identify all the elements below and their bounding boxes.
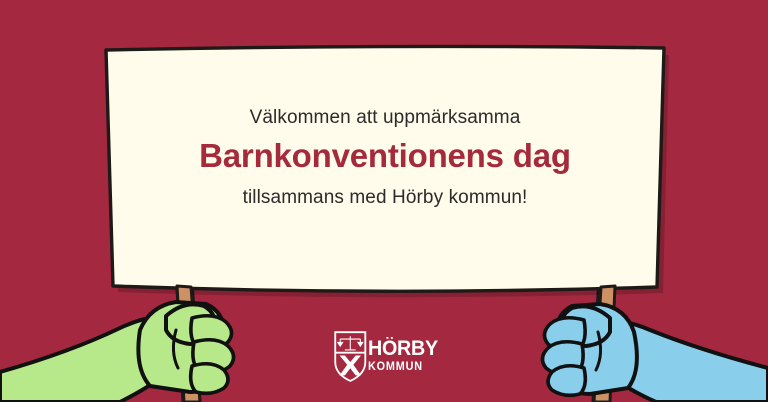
protest-banner [106,46,669,297]
logo-emblem-spacer [334,334,360,378]
horby-kommun-logo: HÖRBY KOMMUN [334,330,444,382]
logo-wordmark: HÖRBY KOMMUN [368,338,442,374]
logo-municipality-subtitle: KOMMUN [368,362,438,374]
poster-canvas: Välkommen att uppmärksamma Barnkonventio… [0,0,768,402]
logo-municipality-name: HÖRBY [368,338,438,359]
